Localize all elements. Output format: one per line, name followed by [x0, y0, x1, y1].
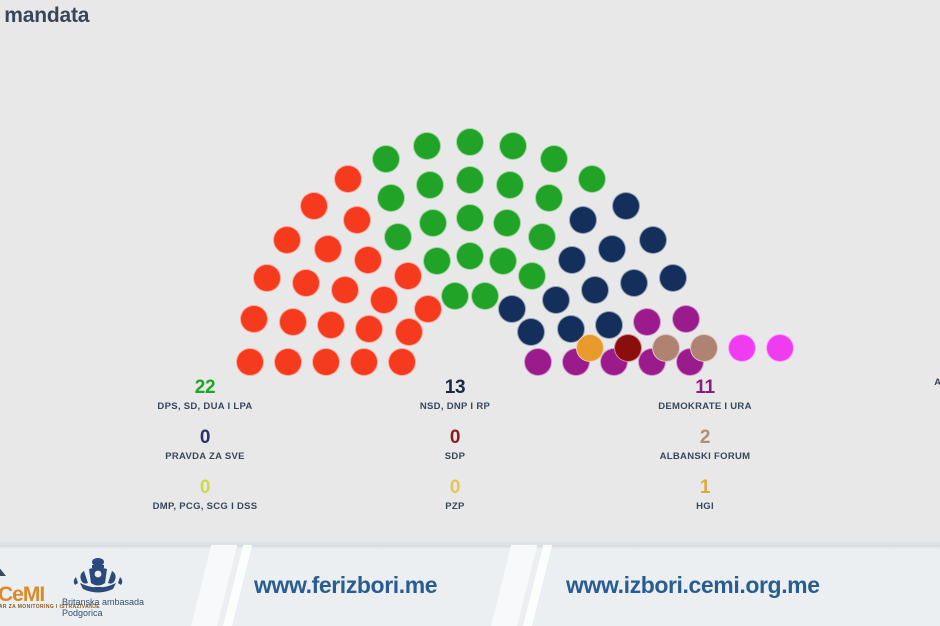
legend-entry: 1HGI	[590, 476, 820, 514]
seat-green	[540, 145, 568, 173]
seat-green	[423, 247, 451, 275]
seat-green	[384, 223, 412, 251]
seat-green	[496, 171, 524, 199]
footer-url-izbori-cemi[interactable]: www.izbori.cemi.org.me	[566, 572, 820, 599]
seat-red	[350, 348, 378, 376]
seat-navy	[542, 286, 570, 314]
legend-entry: 11DEMOKRATE I URA	[590, 376, 820, 414]
seat-magenta	[728, 334, 756, 362]
legend-entry: 0DMP, PCG, SCG I DSS	[90, 476, 320, 514]
legend-entry: 0PRAVDA ZA SVE	[90, 426, 320, 464]
legend-party-name: ALBANSKI FORUM	[590, 450, 820, 464]
legend-seat-count: 0	[340, 476, 570, 500]
british-embassy-logo: Britanska ambasada Podgorica	[62, 557, 192, 619]
seat-red	[331, 276, 359, 304]
seat-red	[388, 348, 416, 376]
seat-red	[314, 235, 342, 263]
seat-orange	[576, 334, 604, 362]
seat-navy	[558, 246, 586, 274]
seat-green	[456, 128, 484, 156]
seat-green	[535, 184, 563, 212]
legend-party-name: HGI	[590, 500, 820, 514]
seat-navy	[498, 295, 526, 323]
legend-party-name: SDP	[340, 450, 570, 464]
footer-url-ferizbori[interactable]: www.ferizbori.me	[254, 572, 437, 599]
seat-red	[292, 269, 320, 297]
seat-red	[394, 262, 422, 290]
seat-navy	[620, 269, 648, 297]
legend-column-2: 13NSD, DNP I RP0SDP0PZP	[340, 376, 570, 526]
seat-green	[471, 282, 499, 310]
seat-red	[334, 165, 362, 193]
seat-red	[236, 348, 264, 376]
legend-seat-count: 1	[590, 476, 820, 500]
embassy-label: Britanska ambasada Podgorica	[62, 597, 144, 619]
legend-party-name: MI I	[840, 430, 940, 444]
seat-magenta	[766, 334, 794, 362]
seat-green	[493, 209, 521, 237]
seat-green	[413, 132, 441, 160]
seat-green	[489, 247, 517, 275]
seat-navy	[517, 318, 545, 346]
seat-red	[395, 318, 423, 346]
seat-green	[528, 223, 556, 251]
seat-navy	[581, 276, 609, 304]
seat-red	[253, 264, 281, 292]
seat-green	[377, 184, 405, 212]
legend-entry: 13NSD, DNP I RP	[340, 376, 570, 414]
seat-green	[499, 132, 527, 160]
legend-column-3: 11DEMOKRATE I URA2ALBANSKI FORUM1HGI	[590, 376, 820, 526]
seat-red	[354, 246, 382, 274]
legend-party-name: NSD, DNP I RP	[340, 400, 570, 414]
seat-red	[279, 308, 307, 336]
legend-seat-count: 0	[90, 476, 320, 500]
seat-red	[343, 206, 371, 234]
seat-purple	[524, 348, 552, 376]
seat-darkred	[614, 334, 642, 362]
seat-red	[274, 348, 302, 376]
seat-navy	[639, 226, 667, 254]
royal-crest-icon	[70, 557, 126, 595]
footer: ✓ CeMI CENTAR ZA MONITORING I ISTRAZIVAN…	[0, 542, 940, 626]
seat-red	[312, 348, 340, 376]
legend-column-4: ALBANSMI I	[840, 376, 940, 484]
legend: 22DPS, SD, DUA I LPA0PRAVDA ZA SVE0DMP, …	[0, 376, 940, 536]
seat-red	[317, 311, 345, 339]
seat-tan	[652, 334, 680, 362]
seat-red	[370, 286, 398, 314]
parliament-hemicycle-chart	[0, 0, 940, 372]
legend-entry: 0PZP	[340, 476, 570, 514]
seat-navy	[598, 235, 626, 263]
legend-seat-count: 11	[590, 376, 820, 400]
seat-tan	[690, 334, 718, 362]
legend-seat-count: 2	[590, 426, 820, 450]
legend-party-name: ALBANS	[840, 376, 940, 390]
legend-seat-count: 0	[90, 426, 320, 450]
legend-party-name: DMP, PCG, SCG I DSS	[90, 500, 320, 514]
seat-green	[578, 165, 606, 193]
seat-red	[273, 226, 301, 254]
seat-green	[456, 166, 484, 194]
seat-navy	[659, 264, 687, 292]
embassy-line2: Podgorica	[62, 608, 144, 619]
legend-entry: MI I	[840, 430, 940, 444]
seat-green	[419, 209, 447, 237]
legend-seat-count: 22	[90, 376, 320, 400]
legend-party-name: PZP	[340, 500, 570, 514]
legend-entry: ALBANS	[840, 376, 940, 390]
legend-party-name: PRAVDA ZA SVE	[90, 450, 320, 464]
seat-green	[441, 282, 469, 310]
seat-green	[456, 204, 484, 232]
legend-seat-count: 0	[340, 426, 570, 450]
seat-red	[300, 192, 328, 220]
legend-party-name: DPS, SD, DUA I LPA	[90, 400, 320, 414]
seat-green	[456, 242, 484, 270]
cemi-triangle-icon	[0, 565, 6, 576]
legend-column-1: 22DPS, SD, DUA I LPA0PRAVDA ZA SVE0DMP, …	[90, 376, 320, 526]
seat-purple	[672, 305, 700, 333]
seat-green	[416, 171, 444, 199]
legend-seat-count: 13	[340, 376, 570, 400]
seat-navy	[612, 192, 640, 220]
legend-entry: 2ALBANSKI FORUM	[590, 426, 820, 464]
seat-navy	[569, 206, 597, 234]
legend-party-name: DEMOKRATE I URA	[590, 400, 820, 414]
seat-red	[414, 295, 442, 323]
seat-purple	[633, 308, 661, 336]
seat-red	[240, 305, 268, 333]
seat-red	[355, 315, 383, 343]
seat-green	[518, 262, 546, 290]
legend-entry: 0SDP	[340, 426, 570, 464]
seat-navy	[595, 311, 623, 339]
infographic-canvas: n mandata 22DPS, SD, DUA I LPA0PRAVDA ZA…	[0, 0, 940, 626]
legend-entry: 22DPS, SD, DUA I LPA	[90, 376, 320, 414]
seat-green	[372, 145, 400, 173]
embassy-line1: Britanska ambasada	[62, 597, 144, 608]
